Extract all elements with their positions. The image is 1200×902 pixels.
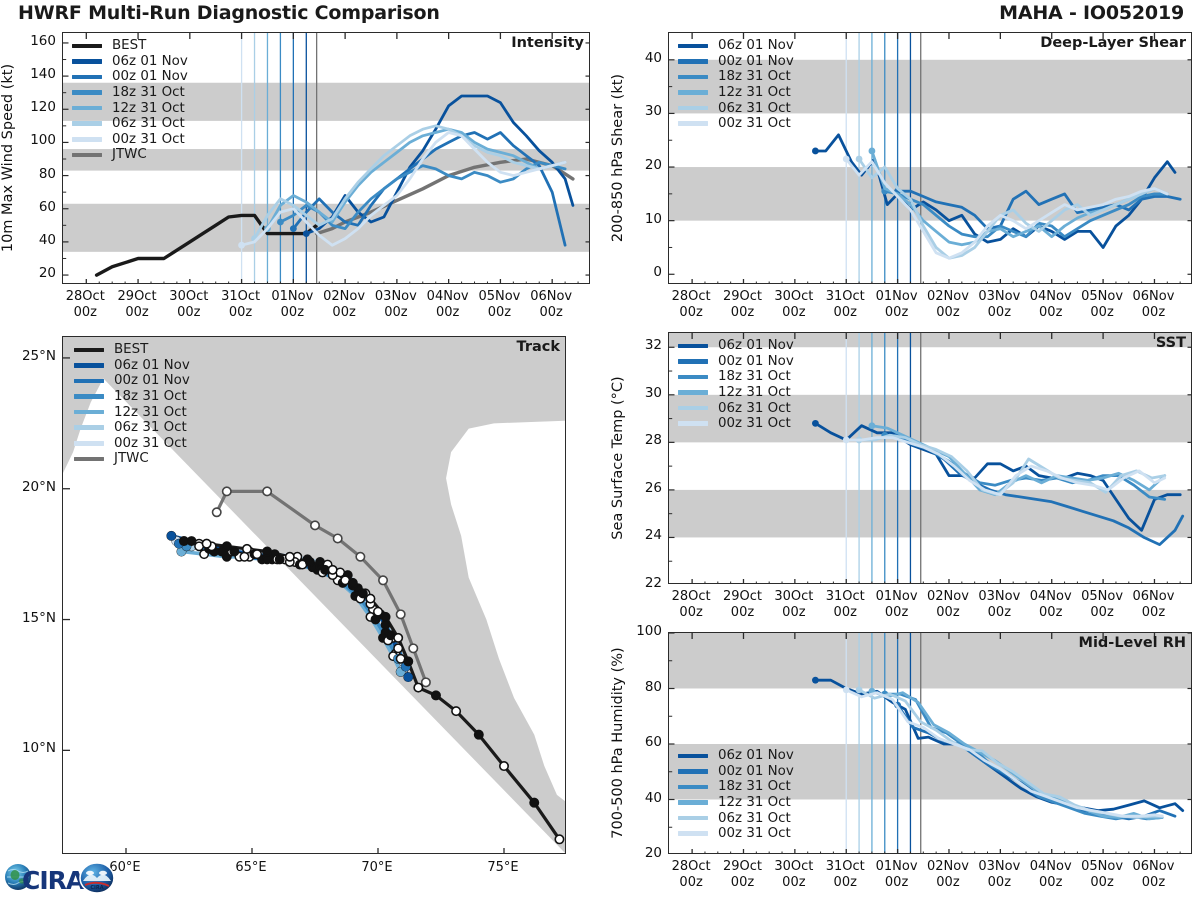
x-tick-hour: 00z <box>782 605 805 620</box>
y-tick-label: 140 <box>18 66 56 82</box>
legend-label: 18z 31 Oct <box>114 389 187 404</box>
track-marker-12z <box>500 762 508 770</box>
y-tick-label: 40 <box>624 50 662 66</box>
legend-swatch <box>678 106 708 111</box>
legend-swatch <box>74 425 104 430</box>
track-marker-12z <box>356 553 364 561</box>
legend-swatch <box>74 441 104 446</box>
legend-label: 00z 31 Oct <box>114 436 187 451</box>
series-init-marker <box>843 437 850 444</box>
legend-swatch <box>72 137 102 142</box>
x-tick-label: 06Nov00z <box>1120 859 1186 891</box>
legend-label: JTWC <box>112 147 147 162</box>
legend-item: 18z 31 Oct <box>74 389 190 405</box>
legend-item: 00z 01 Nov <box>72 69 188 85</box>
series-init-marker <box>869 422 876 429</box>
x-tick-hour: 00z <box>731 875 754 890</box>
track-marker-00z <box>263 547 271 555</box>
x-tick-date: 04Nov <box>1030 859 1072 874</box>
x-tick-date: 04Nov <box>1030 589 1072 604</box>
legend-item: 06z 31 Oct <box>678 100 794 116</box>
x-tick-date: 28Oct <box>672 859 711 874</box>
y-tick-label: 22 <box>624 575 662 591</box>
legend-item: 06z 31 Oct <box>678 400 794 416</box>
track-marker-12z <box>366 594 374 602</box>
track-marker-00z <box>359 589 367 597</box>
shade-band <box>669 167 1192 221</box>
x-tick-hour: 00z <box>885 305 908 320</box>
legend-label: 00z 01 Nov <box>114 373 190 388</box>
x-tick-hour: 00z <box>177 305 200 320</box>
x-tick-hour: 00z <box>74 305 97 320</box>
legend-item: BEST <box>72 38 188 54</box>
y-tick-label: 28 <box>624 432 662 448</box>
legend-label: 06z 31 Oct <box>718 401 791 416</box>
x-tick-date: 03Nov <box>978 859 1020 874</box>
legend-item: 00z 31 Oct <box>74 436 190 452</box>
legend-swatch <box>678 375 708 380</box>
track-marker-12z <box>414 683 422 691</box>
x-tick-date: 06Nov <box>1133 289 1175 304</box>
track-endpoint-marker <box>404 673 413 682</box>
x-tick-hour: 00z <box>1039 875 1062 890</box>
x-tick-date: 01Nov <box>271 289 313 304</box>
page-title: HWRF Multi-Run Diagnostic Comparison <box>18 2 440 24</box>
cira-logo-svg: CIRA CIRA <box>4 856 122 898</box>
track-panel-title: Track <box>517 339 560 355</box>
lat-tick-label: 25°N <box>4 348 56 364</box>
x-tick-hour: 00z <box>679 605 702 620</box>
x-tick-hour: 00z <box>488 305 511 320</box>
shade-band <box>63 204 590 252</box>
track-marker-00z <box>349 579 357 587</box>
legend-swatch <box>72 121 102 126</box>
legend-swatch <box>678 44 708 49</box>
series-line <box>859 435 1165 495</box>
intensity-legend: BEST06z 01 Nov00z 01 Nov18z 31 Oct12z 31… <box>72 38 188 163</box>
legend-item: 12z 31 Oct <box>678 85 794 101</box>
legend-label: 12z 31 Oct <box>112 101 185 116</box>
x-tick-date: 30Oct <box>774 859 813 874</box>
legend-swatch <box>678 831 708 836</box>
legend-swatch <box>678 406 708 411</box>
legend-label: 18z 31 Oct <box>112 85 185 100</box>
legend-item: 00z 01 Nov <box>678 54 794 70</box>
legend-swatch <box>678 121 708 126</box>
x-tick-date: 05Nov <box>1081 289 1123 304</box>
x-tick-hour: 00z <box>885 875 908 890</box>
track-marker-12z <box>253 550 261 558</box>
series-init-marker <box>869 148 876 155</box>
series-init-marker <box>843 156 850 163</box>
legend-swatch <box>678 785 708 790</box>
legend-swatch <box>74 348 104 353</box>
x-tick-date: 03Nov <box>978 289 1020 304</box>
track-marker-12z <box>223 487 231 495</box>
legend-swatch <box>74 457 104 462</box>
x-tick-date: 04Nov <box>427 289 469 304</box>
legend-item: 06z 01 Nov <box>678 38 794 54</box>
legend-label: 06z 01 Nov <box>718 748 794 763</box>
x-tick-date: 04Nov <box>1030 289 1072 304</box>
legend-swatch <box>678 754 708 759</box>
y-tick-label: 32 <box>624 337 662 353</box>
x-tick-date: 06Nov <box>1133 589 1175 604</box>
legend-label: 18z 31 Oct <box>718 779 791 794</box>
legend-swatch <box>678 75 708 80</box>
legend-swatch <box>72 75 102 80</box>
x-tick-label: 06Nov00z <box>518 289 584 321</box>
y-tick-label: 60 <box>18 199 56 215</box>
legend-item: 00z 01 Nov <box>678 764 794 780</box>
legend-label: 00z 01 Nov <box>718 54 794 69</box>
x-tick-date: 31Oct <box>826 859 865 874</box>
legend-label: 00z 01 Nov <box>718 354 794 369</box>
legend-label: 00z 01 Nov <box>718 764 794 779</box>
legend-item: 06z 31 Oct <box>678 810 794 826</box>
legend-label: 00z 31 Oct <box>718 116 791 131</box>
legend-label: 00z 31 Oct <box>112 132 185 147</box>
y-tick-label: 30 <box>624 103 662 119</box>
intensity-y-axis-label: 10m Max Wind Speed (kt) <box>0 64 16 252</box>
legend-label: 12z 31 Oct <box>718 85 791 100</box>
track-marker-12z <box>213 508 221 516</box>
intensity-panel: Intensity BEST06z 01 Nov00z 01 Nov18z 31… <box>62 32 590 284</box>
x-tick-hour: 00z <box>834 605 857 620</box>
legend-label: 12z 31 Oct <box>114 405 187 420</box>
x-tick-date: 29Oct <box>118 289 157 304</box>
legend-label: 06z 31 Oct <box>718 101 791 116</box>
lon-tick-label: 70°E <box>344 860 410 876</box>
y-tick-label: 100 <box>624 623 662 639</box>
legend-item: 18z 31 Oct <box>72 85 188 101</box>
legend-label: 00z 31 Oct <box>718 416 791 431</box>
legend-label: 06z 01 Nov <box>718 38 794 53</box>
x-tick-date: 02Nov <box>927 289 969 304</box>
y-tick-label: 60 <box>624 734 662 750</box>
x-tick-hour: 00z <box>1142 305 1165 320</box>
x-tick-date: 02Nov <box>323 289 365 304</box>
x-tick-date: 05Nov <box>1081 859 1123 874</box>
x-tick-hour: 00z <box>936 875 959 890</box>
legend-label: 12z 31 Oct <box>718 385 791 400</box>
y-tick-label: 160 <box>18 33 56 49</box>
legend-item: 12z 31 Oct <box>74 404 190 420</box>
x-tick-date: 01Nov <box>876 289 918 304</box>
y-tick-label: 10 <box>624 211 662 227</box>
x-tick-date: 28Oct <box>672 589 711 604</box>
legend-swatch <box>74 410 104 415</box>
x-tick-hour: 00z <box>782 305 805 320</box>
x-tick-hour: 00z <box>1090 305 1113 320</box>
shear-legend: 06z 01 Nov00z 01 Nov18z 31 Oct12z 31 Oct… <box>678 38 794 132</box>
legend-item: 06z 01 Nov <box>678 748 794 764</box>
track-marker-00z <box>223 542 231 550</box>
lat-tick-label: 10°N <box>4 740 56 756</box>
x-tick-date: 05Nov <box>1081 589 1123 604</box>
x-tick-hour: 00z <box>988 875 1011 890</box>
rh-panel-title: Mid-Level RH <box>1079 635 1186 651</box>
x-tick-date: 31Oct <box>826 589 865 604</box>
legend-swatch <box>678 421 708 426</box>
series-init-marker <box>856 686 863 693</box>
x-tick-date: 29Oct <box>723 589 762 604</box>
legend-swatch <box>74 363 104 368</box>
sst-y-axis-label: Sea Surface Temp (°C) <box>610 376 626 539</box>
legend-item: 06z 01 Nov <box>72 54 188 70</box>
legend-swatch <box>678 344 708 349</box>
series-init-marker <box>843 686 850 693</box>
sst-legend: 06z 01 Nov00z 01 Nov18z 31 Oct12z 31 Oct… <box>678 338 794 432</box>
legend-item: 00z 01 Nov <box>678 354 794 370</box>
legend-swatch <box>74 394 104 399</box>
x-tick-hour: 00z <box>1142 875 1165 890</box>
sst-panel-title: SST <box>1156 335 1186 351</box>
legend-swatch <box>74 379 104 384</box>
x-tick-date: 01Nov <box>876 589 918 604</box>
track-marker-12z <box>379 576 387 584</box>
sst-panel: SST 06z 01 Nov00z 01 Nov18z 31 Oct12z 31… <box>668 332 1192 584</box>
x-tick-hour: 00z <box>679 305 702 320</box>
legend-item: 12z 31 Oct <box>678 795 794 811</box>
legend-swatch <box>678 359 708 364</box>
legend-label: 06z 31 Oct <box>112 116 185 131</box>
legend-item: 12z 31 Oct <box>72 100 188 116</box>
x-tick-date: 30Oct <box>774 289 813 304</box>
x-tick-date: 02Nov <box>927 589 969 604</box>
y-tick-label: 20 <box>18 265 56 281</box>
track-start-marker <box>167 531 176 540</box>
x-tick-hour: 00z <box>834 875 857 890</box>
legend-item: 18z 31 Oct <box>678 779 794 795</box>
x-tick-hour: 00z <box>988 305 1011 320</box>
lat-tick-label: 15°N <box>4 610 56 626</box>
track-marker-12z <box>311 521 319 529</box>
storm-id-title: MAHA - IO052019 <box>999 2 1184 24</box>
track-marker-00z <box>530 798 538 806</box>
y-tick-label: 26 <box>624 480 662 496</box>
legend-item: 00z 01 Nov <box>74 373 190 389</box>
intensity-panel-title: Intensity <box>511 35 584 51</box>
track-marker-00z <box>381 613 389 621</box>
x-tick-hour: 00z <box>731 605 754 620</box>
x-tick-hour: 00z <box>281 305 304 320</box>
x-tick-date: 29Oct <box>723 289 762 304</box>
legend-label: 06z 01 Nov <box>112 54 188 69</box>
legend-item: BEST <box>74 342 190 358</box>
series-init-marker <box>277 219 284 226</box>
x-tick-date: 28Oct <box>66 289 105 304</box>
x-tick-hour: 00z <box>539 305 562 320</box>
track-legend: BEST06z 01 Nov00z 01 Nov18z 31 Oct12z 31… <box>74 342 190 467</box>
track-marker-12z <box>409 644 417 652</box>
x-tick-hour: 00z <box>936 605 959 620</box>
track-marker-12z <box>555 835 563 843</box>
x-tick-hour: 00z <box>384 305 407 320</box>
y-tick-label: 0 <box>624 264 662 280</box>
x-tick-hour: 00z <box>1090 875 1113 890</box>
series-init-marker <box>238 242 245 249</box>
x-tick-hour: 00z <box>679 875 702 890</box>
legend-label: 06z 01 Nov <box>718 338 794 353</box>
legend-swatch <box>72 44 102 49</box>
x-tick-hour: 00z <box>1090 605 1113 620</box>
track-marker-12z <box>333 534 341 542</box>
legend-swatch <box>678 816 708 821</box>
x-tick-label: 06Nov00z <box>1120 289 1186 321</box>
svg-text:CIRA: CIRA <box>22 866 86 895</box>
y-tick-label: 20 <box>624 157 662 173</box>
shear-panel: Deep-Layer Shear 06z 01 Nov00z 01 Nov18z… <box>668 32 1192 284</box>
legend-swatch <box>72 59 102 64</box>
legend-label: 18z 31 Oct <box>718 369 791 384</box>
x-tick-date: 28Oct <box>672 289 711 304</box>
legend-label: JTWC <box>114 451 149 466</box>
legend-label: 06z 31 Oct <box>718 811 791 826</box>
lat-tick-label: 20°N <box>4 479 56 495</box>
shear-panel-title: Deep-Layer Shear <box>1040 35 1186 51</box>
y-tick-label: 20 <box>624 845 662 861</box>
track-marker-12z <box>394 634 402 642</box>
legend-swatch <box>678 90 708 95</box>
legend-swatch <box>678 59 708 64</box>
y-tick-label: 100 <box>18 132 56 148</box>
x-tick-hour: 00z <box>782 875 805 890</box>
y-tick-label: 40 <box>18 232 56 248</box>
track-marker-12z <box>452 707 460 715</box>
track-marker-00z <box>276 555 284 563</box>
y-tick-label: 80 <box>18 166 56 182</box>
y-tick-label: 30 <box>624 385 662 401</box>
series-init-marker <box>812 420 819 427</box>
x-tick-hour: 00z <box>834 305 857 320</box>
x-tick-date: 31Oct <box>221 289 260 304</box>
legend-item: 06z 01 Nov <box>678 338 794 354</box>
legend-label: BEST <box>112 38 146 53</box>
legend-swatch <box>678 390 708 395</box>
x-tick-hour: 00z <box>1142 605 1165 620</box>
x-tick-hour: 00z <box>332 305 355 320</box>
x-tick-date: 02Nov <box>927 859 969 874</box>
legend-label: 12z 31 Oct <box>718 795 791 810</box>
legend-label: BEST <box>114 342 148 357</box>
track-marker-12z <box>243 545 251 553</box>
track-marker-00z <box>230 547 238 555</box>
legend-item: 06z 01 Nov <box>74 358 190 374</box>
rh-panel: Mid-Level RH 06z 01 Nov00z 01 Nov18z 31 … <box>668 632 1192 854</box>
track-marker-00z <box>306 558 314 566</box>
x-tick-date: 05Nov <box>478 289 520 304</box>
legend-item: 06z 31 Oct <box>74 420 190 436</box>
x-tick-date: 31Oct <box>826 289 865 304</box>
legend-label: 00z 01 Nov <box>112 69 188 84</box>
x-tick-date: 30Oct <box>774 589 813 604</box>
rh-legend: 06z 01 Nov00z 01 Nov18z 31 Oct12z 31 Oct… <box>678 748 794 842</box>
x-tick-date: 03Nov <box>375 289 417 304</box>
lon-tick-label: 75°E <box>470 860 536 876</box>
legend-swatch <box>678 769 708 774</box>
x-tick-hour: 00z <box>1039 305 1062 320</box>
track-marker-00z <box>475 730 483 738</box>
x-tick-hour: 00z <box>885 605 908 620</box>
lon-tick-label: 65°E <box>218 860 284 876</box>
track-marker-12z <box>396 610 404 618</box>
svg-text:CIRA: CIRA <box>90 885 103 891</box>
x-tick-date: 30Oct <box>169 289 208 304</box>
y-tick-label: 80 <box>624 679 662 695</box>
cira-logo: CIRA CIRA <box>4 856 122 898</box>
series-init-marker <box>812 677 819 684</box>
x-tick-date: 06Nov <box>530 289 572 304</box>
track-marker-12z <box>328 566 336 574</box>
series-init-marker <box>812 148 819 155</box>
page-header: HWRF Multi-Run Diagnostic Comparison MAH… <box>0 0 1200 28</box>
series-init-marker <box>303 230 310 237</box>
y-tick-label: 120 <box>18 99 56 115</box>
legend-label: 06z 31 Oct <box>114 420 187 435</box>
legend-item: 00z 31 Oct <box>72 132 188 148</box>
legend-label: 18z 31 Oct <box>718 69 791 84</box>
legend-item: JTWC <box>74 451 190 467</box>
track-marker-12z <box>263 487 271 495</box>
legend-item: 06z 31 Oct <box>72 116 188 132</box>
track-marker-12z <box>374 607 382 615</box>
x-tick-hour: 00z <box>731 305 754 320</box>
x-tick-label: 06Nov00z <box>1120 589 1186 621</box>
legend-swatch <box>72 90 102 95</box>
x-tick-hour: 00z <box>988 605 1011 620</box>
x-tick-date: 29Oct <box>723 859 762 874</box>
x-tick-hour: 00z <box>1039 605 1062 620</box>
legend-item: 00z 31 Oct <box>678 826 794 842</box>
x-tick-hour: 00z <box>936 305 959 320</box>
legend-label: 00z 31 Oct <box>718 826 791 841</box>
legend-item: JTWC <box>72 147 188 163</box>
x-tick-date: 06Nov <box>1133 859 1175 874</box>
track-marker-12z <box>422 678 430 686</box>
track-marker-12z <box>286 553 294 561</box>
legend-swatch <box>72 153 102 158</box>
legend-item: 12z 31 Oct <box>678 385 794 401</box>
legend-item: 18z 31 Oct <box>678 69 794 85</box>
track-marker-00z <box>404 657 412 665</box>
track-panel: Track BEST06z 01 Nov00z 01 Nov18z 31 Oct… <box>62 336 566 854</box>
legend-label: 06z 01 Nov <box>114 358 190 373</box>
legend-item: 00z 31 Oct <box>678 416 794 432</box>
legend-item: 18z 31 Oct <box>678 369 794 385</box>
x-tick-hour: 00z <box>125 305 148 320</box>
x-tick-date: 01Nov <box>876 859 918 874</box>
x-tick-hour: 00z <box>436 305 459 320</box>
series-init-marker <box>290 225 297 232</box>
track-marker-00z <box>180 537 188 545</box>
legend-swatch <box>678 800 708 805</box>
series-init-marker <box>856 156 863 163</box>
track-marker-12z <box>202 539 210 547</box>
track-marker-00z <box>432 691 440 699</box>
x-tick-date: 03Nov <box>978 589 1020 604</box>
y-tick-label: 24 <box>624 527 662 543</box>
x-tick-hour: 00z <box>229 305 252 320</box>
track-marker-12z <box>394 644 402 652</box>
legend-item: 00z 31 Oct <box>678 116 794 132</box>
y-tick-label: 40 <box>624 790 662 806</box>
legend-swatch <box>72 106 102 111</box>
